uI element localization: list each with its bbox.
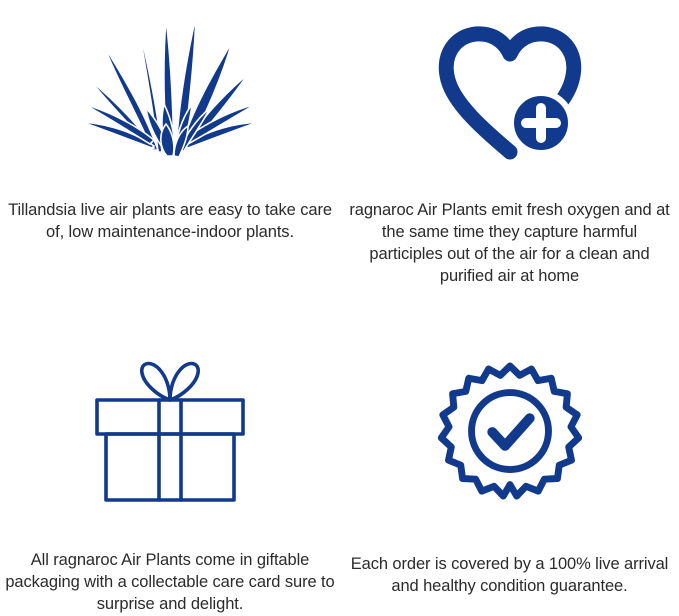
feature-caption-guarantee: Each order is covered by a 100% live arr…	[347, 554, 673, 598]
heart-plus-icon	[340, 0, 679, 160]
feature-cell-oxygen: ragnaroc Air Plants emit fresh oxygen an…	[340, 0, 679, 308]
feature-caption-gift: All ragnaroc Air Plants come in giftable…	[5, 550, 335, 616]
check-badge-icon	[340, 308, 679, 508]
feature-cell-gift: All ragnaroc Air Plants come in giftable…	[0, 308, 340, 616]
feature-cell-plant: Tillandsia live air plants are easy to t…	[0, 0, 340, 308]
gift-box-icon	[0, 308, 340, 504]
air-plant-icon	[0, 0, 340, 160]
feature-caption-plant: Tillandsia live air plants are easy to t…	[4, 200, 336, 244]
feature-grid: Tillandsia live air plants are easy to t…	[0, 0, 679, 616]
feature-cell-guarantee: Each order is covered by a 100% live arr…	[340, 308, 679, 616]
feature-caption-oxygen: ragnaroc Air Plants emit fresh oxygen an…	[349, 200, 671, 288]
